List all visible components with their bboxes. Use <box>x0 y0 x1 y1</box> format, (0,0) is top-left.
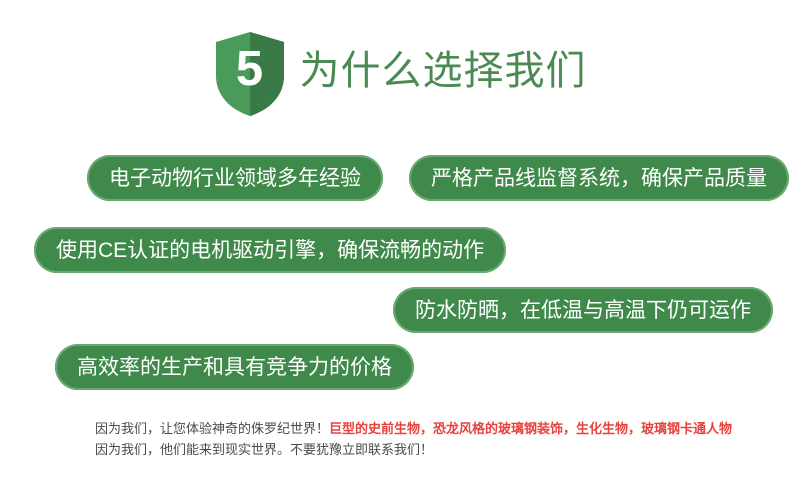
feature-pill-ce-motor: 使用CE认证的电机驱动引擎，确保流畅的动作 <box>34 227 506 273</box>
page-title: 为什么选择我们 <box>300 51 587 97</box>
feature-pill-weatherproof: 防水防晒，在低温与高温下仍可运作 <box>393 287 773 333</box>
footer-line-1-accent: 巨型的史前生物，恐龙风格的玻璃钢装饰，生化生物，玻璃钢卡通人物 <box>329 421 732 436</box>
badge-shield: 5 <box>214 30 286 118</box>
badge-number: 5 <box>214 30 286 118</box>
feature-pill-quality-control: 严格产品线监督系统，确保产品质量 <box>409 155 789 201</box>
feature-row-2: 使用CE认证的电机驱动引擎，确保流畅的动作 <box>0 227 800 273</box>
footer-line-2: 因为我们，他们能来到现实世界。不要犹豫立即联系我们！ <box>95 439 795 460</box>
footer-copy: 因为我们，让您体验神奇的侏罗纪世界！巨型的史前生物，恐龙风格的玻璃钢装饰，生化生… <box>95 418 795 460</box>
page-header: 5 为什么选择我们 <box>0 26 800 122</box>
feature-row-3: 防水防晒，在低温与高温下仍可运作 <box>0 287 800 333</box>
feature-row-1: 电子动物行业领域多年经验 严格产品线监督系统，确保产品质量 <box>0 155 800 201</box>
footer-line-1: 因为我们，让您体验神奇的侏罗纪世界！巨型的史前生物，恐龙风格的玻璃钢装饰，生化生… <box>95 418 795 439</box>
footer-line-1-prefix: 因为我们，让您体验神奇的侏罗纪世界！ <box>95 421 329 436</box>
feature-pill-experience: 电子动物行业领域多年经验 <box>87 155 383 201</box>
feature-pill-price: 高效率的生产和具有竞争力的价格 <box>55 344 414 390</box>
feature-row-4: 高效率的生产和具有竞争力的价格 <box>0 344 800 390</box>
